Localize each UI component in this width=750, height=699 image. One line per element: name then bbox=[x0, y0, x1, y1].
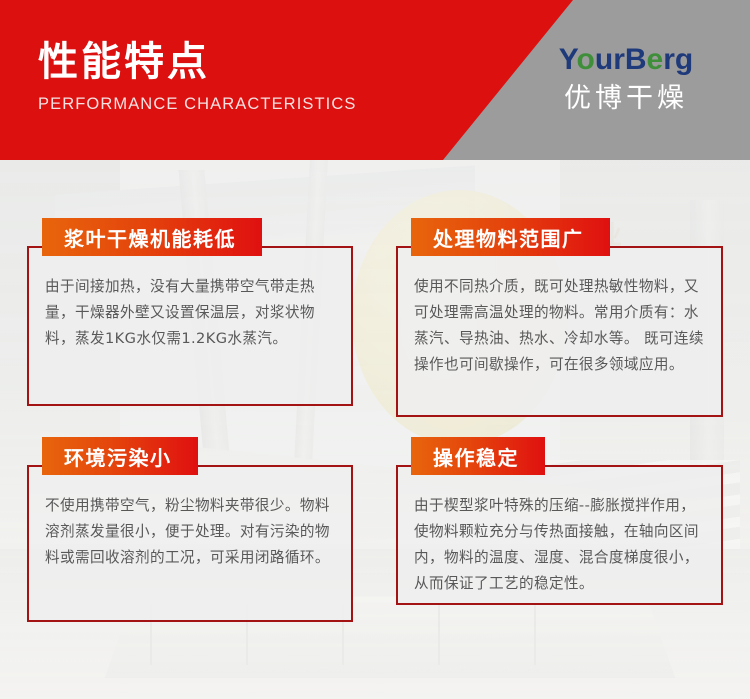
feature-card-4-text: 由于楔型浆叶特殊的压缩--膨胀搅拌作用，使物料颗粒充分与传热面接触，在轴向区间内… bbox=[414, 493, 710, 597]
feature-card-2-title: 处理物料范围广 bbox=[411, 218, 610, 256]
brand-letters-rg: rg bbox=[663, 43, 693, 76]
feature-card-3-title: 环境污染小 bbox=[42, 437, 198, 475]
brand-letter-y: Y bbox=[559, 43, 577, 76]
page-title: 性能特点 bbox=[38, 38, 356, 86]
feature-card-1: 浆叶干燥机能耗低 由于间接加热，没有大量携带空气带走热量，干燥器外壁又设置保温层… bbox=[27, 218, 353, 406]
feature-card-3: 环境污染小 不使用携带空气，粉尘物料夹带很少。物料溶剂蒸发量很小，便于处理。对有… bbox=[27, 437, 353, 622]
poster-page: 证企业 性能特点 PERFORMANCE CHARACTERISTICS You… bbox=[0, 0, 750, 699]
brand-name-cn: 优博干燥 bbox=[536, 83, 716, 115]
brand-wordmark: YourBerg bbox=[536, 43, 716, 77]
page-header: 性能特点 PERFORMANCE CHARACTERISTICS YourBer… bbox=[0, 0, 750, 160]
feature-card-1-text: 由于间接加热，没有大量携带空气带走热量，干燥器外壁又设置保温层，对浆状物料，蒸发… bbox=[45, 274, 337, 352]
feature-card-3-text: 不使用携带空气，粉尘物料夹带很少。物料溶剂蒸发量很小，便于处理。对有污染的物料或… bbox=[45, 493, 337, 571]
brand-letters-urb: urB bbox=[595, 43, 647, 76]
header-title-block: 性能特点 PERFORMANCE CHARACTERISTICS bbox=[38, 38, 356, 114]
feature-card-1-title: 浆叶干燥机能耗低 bbox=[42, 218, 262, 256]
feature-card-4-title: 操作稳定 bbox=[411, 437, 545, 475]
feature-card-4: 操作稳定 由于楔型浆叶特殊的压缩--膨胀搅拌作用，使物料颗粒充分与传热面接触，在… bbox=[396, 437, 723, 605]
brand-letter-e: e bbox=[647, 43, 664, 76]
page-subtitle: PERFORMANCE CHARACTERISTICS bbox=[38, 95, 356, 114]
feature-card-2: 处理物料范围广 使用不同热介质，既可处理热敏性物料，又可处理需高温处理的物料。常… bbox=[396, 218, 723, 417]
feature-card-2-text: 使用不同热介质，既可处理热敏性物料，又可处理需高温处理的物料。常用介质有：水蒸汽… bbox=[414, 274, 710, 378]
brand-logo: YourBerg 优博干燥 bbox=[536, 43, 716, 115]
brand-letter-o: o bbox=[577, 43, 595, 76]
